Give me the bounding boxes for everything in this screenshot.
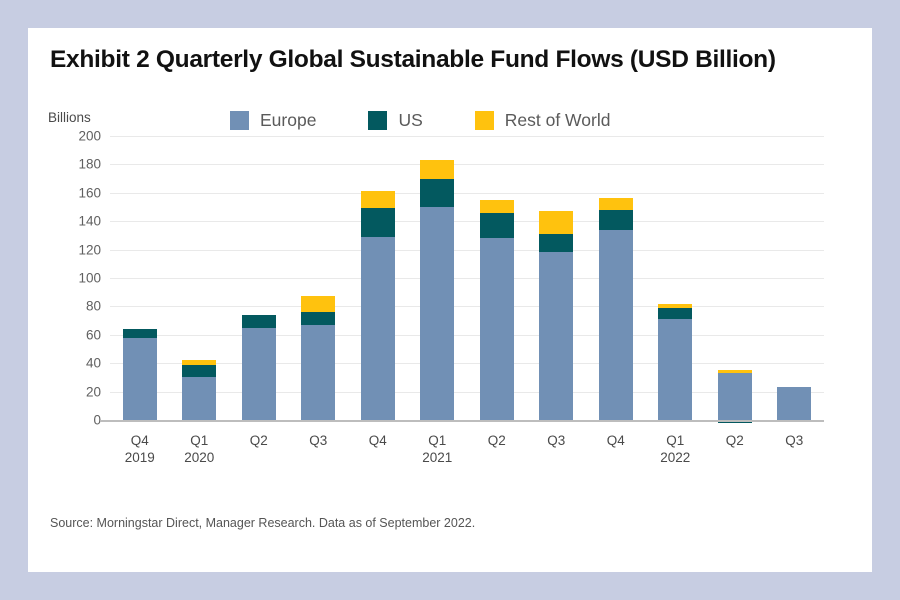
bar-segment[interactable] [539, 211, 573, 234]
legend-swatch-icon [230, 111, 249, 130]
bar-segment[interactable] [242, 315, 276, 328]
bar-segment[interactable] [718, 370, 752, 373]
bar-column[interactable] [539, 136, 573, 428]
bar-column[interactable] [182, 136, 216, 428]
y-axis-tick-label: 200 [78, 129, 101, 144]
bar-segment[interactable] [480, 200, 514, 213]
bar-segment[interactable] [480, 238, 514, 420]
legend-swatch-icon [475, 111, 494, 130]
y-axis-tick-label: 180 [78, 157, 101, 172]
bar-segment[interactable] [182, 377, 216, 420]
bar-column[interactable] [480, 136, 514, 428]
bar-segment[interactable] [301, 312, 335, 325]
bar-segment[interactable] [539, 234, 573, 252]
y-axis-tick-label: 140 [78, 214, 101, 229]
bar-column[interactable] [361, 136, 395, 428]
x-axis-tick-label: Q3 [734, 432, 854, 449]
legend-item[interactable]: Europe [230, 110, 316, 131]
y-axis-tick-label: 80 [86, 299, 101, 314]
bar-segment[interactable] [242, 328, 276, 420]
legend-item[interactable]: Rest of World [475, 110, 611, 131]
bar-column[interactable] [658, 136, 692, 428]
x-tick-year: 2021 [377, 449, 497, 466]
bar-column[interactable] [301, 136, 335, 428]
page-title: Exhibit 2 Quarterly Global Sustainable F… [50, 46, 776, 74]
bar-segment[interactable] [658, 304, 692, 308]
chart-legend: EuropeUSRest of World [230, 110, 662, 131]
bar-segment[interactable] [480, 213, 514, 239]
chart-card: Exhibit 2 Quarterly Global Sustainable F… [28, 28, 872, 572]
bar-segment[interactable] [123, 329, 157, 338]
bar-column[interactable] [420, 136, 454, 428]
bar-segment[interactable] [182, 365, 216, 378]
x-tick-year: 2020 [139, 449, 259, 466]
bar-segment[interactable] [599, 198, 633, 209]
bar-segment[interactable] [420, 160, 454, 178]
bar-segment[interactable] [420, 179, 454, 207]
bar-segment[interactable] [361, 237, 395, 420]
bar-segment[interactable] [777, 387, 811, 420]
bar-segment[interactable] [539, 252, 573, 420]
y-axis-tick-label: 20 [86, 384, 101, 399]
y-axis-unit-label: Billions [48, 110, 91, 125]
legend-swatch-icon [368, 111, 387, 130]
bar-segment[interactable] [182, 360, 216, 364]
bar-segment[interactable] [599, 230, 633, 420]
x-tick-year: 2022 [615, 449, 735, 466]
bar-segment[interactable] [658, 319, 692, 420]
y-axis-tick-label: 40 [86, 356, 101, 371]
bar-segment[interactable] [301, 325, 335, 420]
bar-segment[interactable] [658, 308, 692, 319]
bar-segment[interactable] [718, 373, 752, 420]
bar-column[interactable] [123, 136, 157, 428]
bar-segment[interactable] [420, 207, 454, 420]
y-axis-tick-label: 160 [78, 185, 101, 200]
legend-item[interactable]: US [368, 110, 422, 131]
bar-column[interactable] [599, 136, 633, 428]
legend-item-label: Rest of World [505, 110, 611, 131]
legend-item-label: US [398, 110, 422, 131]
y-axis-tick-label: 100 [78, 271, 101, 286]
bar-segment[interactable] [599, 210, 633, 230]
bar-segment[interactable] [361, 208, 395, 236]
source-note: Source: Morningstar Direct, Manager Rese… [50, 516, 475, 530]
zero-axis-line [100, 420, 824, 422]
bar-column[interactable] [242, 136, 276, 428]
bar-column[interactable] [777, 136, 811, 428]
legend-item-label: Europe [260, 110, 316, 131]
bar-segment[interactable] [361, 191, 395, 208]
x-tick-quarter: Q3 [785, 433, 803, 448]
bar-segment[interactable] [123, 338, 157, 420]
chart-plot-area: 020406080100120140160180200 Q42019Q12020… [110, 136, 824, 428]
bar-column[interactable] [718, 136, 752, 428]
y-axis-tick-label: 120 [78, 242, 101, 257]
y-axis-tick-label: 60 [86, 327, 101, 342]
bar-segment[interactable] [301, 296, 335, 312]
